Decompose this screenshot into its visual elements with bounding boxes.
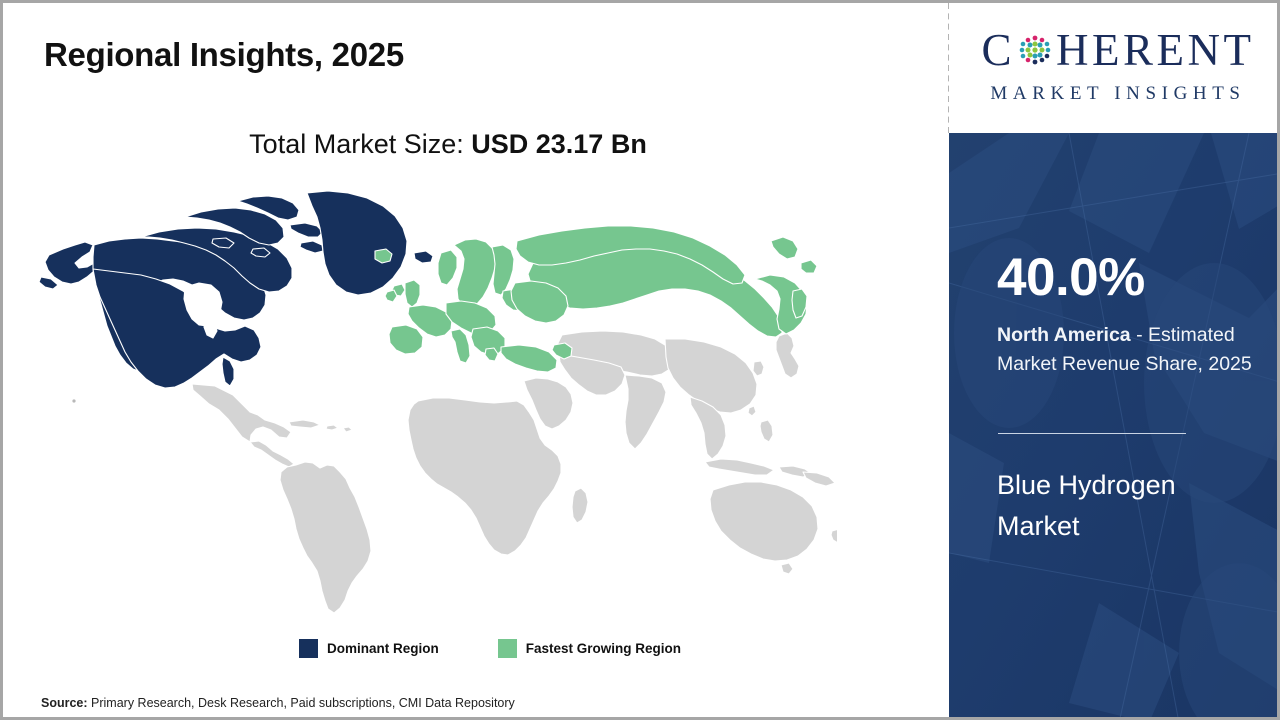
panel-background-texture xyxy=(949,133,1280,720)
legend-label-fastest-growing: Fastest Growing Region xyxy=(526,641,681,656)
source-text: Primary Research, Desk Research, Paid su… xyxy=(88,696,515,710)
square-swatch-icon xyxy=(299,639,318,658)
legend-label-dominant: Dominant Region xyxy=(327,641,439,656)
page-title: Regional Insights, 2025 xyxy=(44,36,404,74)
world-map-svg xyxy=(37,179,837,619)
map-legend: Dominant Region Fastest Growing Region xyxy=(299,639,681,658)
map-region-neutral xyxy=(192,331,837,613)
map-speck xyxy=(72,399,75,402)
left-content-panel: Regional Insights, 2025 Total Market Siz… xyxy=(3,3,949,717)
legend-item-fastest-growing: Fastest Growing Region xyxy=(498,639,681,658)
source-note: Source: Primary Research, Desk Research,… xyxy=(41,696,515,710)
globe-dots-icon xyxy=(1016,31,1054,69)
stat-region: North America xyxy=(997,324,1131,346)
market-size-value: USD 23.17 Bn xyxy=(471,129,647,159)
square-swatch-icon xyxy=(498,639,517,658)
stat-divider-rule xyxy=(998,433,1186,434)
coherent-market-insights-logo: C xyxy=(965,25,1271,105)
logo-tagline: MARKET INSIGHTS xyxy=(965,83,1271,105)
market-name: Blue Hydrogen Market xyxy=(997,465,1257,547)
market-size-prefix: Total Market Size: xyxy=(249,129,471,159)
world-map xyxy=(37,179,837,619)
logo-word-start: C xyxy=(982,28,1016,73)
logo-word-end: HERENT xyxy=(1056,28,1254,73)
slide-canvas: Regional Insights, 2025 Total Market Siz… xyxy=(0,0,1280,720)
source-label: Source: xyxy=(41,696,88,710)
total-market-size: Total Market Size: USD 23.17 Bn xyxy=(3,129,893,160)
stat-panel: 40.0% North America - Estimated Market R… xyxy=(949,133,1280,720)
legend-item-dominant: Dominant Region xyxy=(299,639,439,658)
right-sidebar-panel: C xyxy=(949,3,1280,717)
stat-description: North America - Estimated Market Revenue… xyxy=(997,321,1261,379)
stat-percent: 40.0% xyxy=(997,251,1145,304)
logo-area: C xyxy=(949,3,1280,133)
map-region-dominant xyxy=(39,191,433,388)
logo-wordmark: C xyxy=(965,25,1271,75)
